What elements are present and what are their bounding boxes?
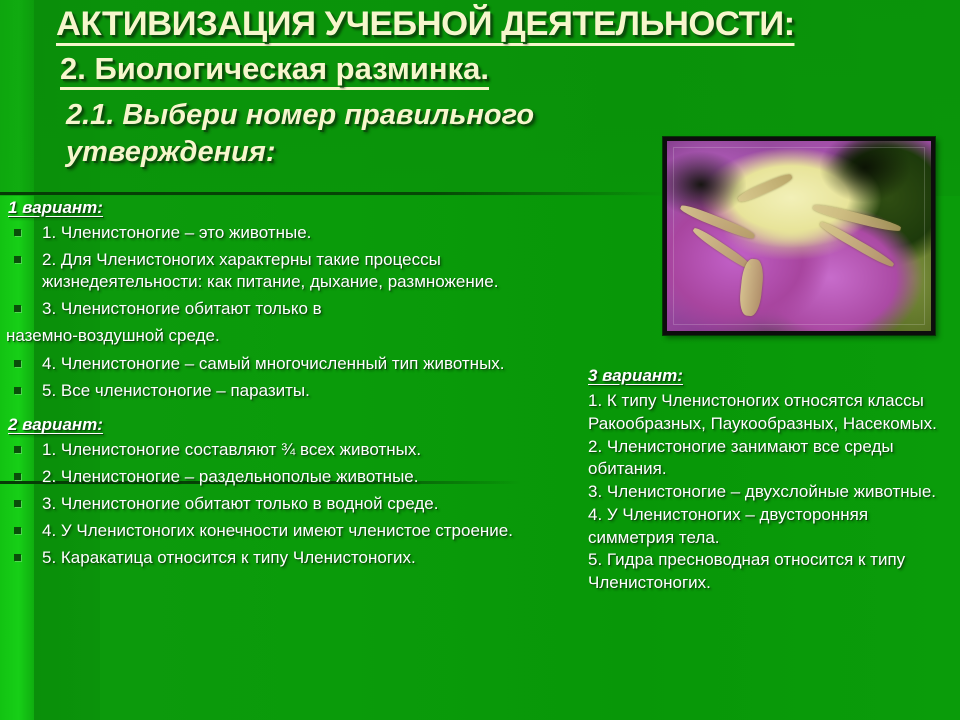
photo-shadow-2: [820, 137, 910, 202]
statement-text: 4. У Членистоногих конечности имеют член…: [42, 521, 513, 540]
square-bullet-icon: [14, 446, 21, 453]
variant-2-list: 1. Членистоногие составляют ¾ всех живот…: [0, 439, 578, 569]
list-item: 2. Для Членистоногих характерны такие пр…: [0, 249, 578, 293]
subtitle-section: 2. Биологическая разминка.: [60, 52, 489, 90]
list-item: 2. Членистоногие занимают все среды обит…: [588, 436, 948, 482]
list-item: 3. Членистоногие обитают только в: [0, 298, 578, 320]
statement-text: 1. Членистоногие составляют ¾ всех живот…: [42, 440, 421, 459]
list-item: 3. Членистоногие обитают только в водной…: [0, 493, 578, 515]
square-bullet-icon: [14, 256, 21, 263]
spacer: [0, 406, 578, 415]
slide-canvas: АКТИВИЗАЦИЯ УЧЕБНОЙ ДЕЯТЕЛЬНОСТИ: 2. Био…: [0, 0, 960, 720]
list-item: 1. Членистоногие – это животные.: [0, 222, 578, 244]
spider-photo-image: [667, 141, 931, 331]
photo-shadow-1: [663, 152, 746, 217]
page-title: АКТИВИЗАЦИЯ УЧЕБНОЙ ДЕЯТЕЛЬНОСТИ:: [56, 6, 795, 46]
square-bullet-icon: [14, 527, 21, 534]
statement-text: 3. Членистоногие обитают только в: [42, 299, 322, 318]
variant-2-heading: 2 вариант:: [8, 415, 578, 435]
square-bullet-icon: [14, 554, 21, 561]
variant-3-heading: 3 вариант:: [588, 366, 948, 386]
statement-text: 4. Членистоногие – самый многочисленный …: [42, 354, 505, 373]
statement-text: 2. Для Членистоногих характерны такие пр…: [42, 250, 498, 291]
list-item: 4. У Членистоногих – двусторонняя симмет…: [588, 504, 948, 550]
square-bullet-icon: [14, 305, 21, 312]
statement-text: 1. Членистоногие – это животные.: [42, 223, 311, 242]
statement-text: 3. Членистоногие обитают только в водной…: [42, 494, 438, 513]
square-bullet-icon: [14, 229, 21, 236]
divider-rule-top: [0, 192, 664, 195]
list-item: 1. Членистоногие составляют ¾ всех живот…: [0, 439, 578, 461]
list-item: 1. К типу Членистоногих относятся классы…: [588, 390, 948, 436]
variant-1-continuation: наземно-воздушной среде.: [6, 325, 578, 347]
left-column: 1 вариант: 1. Членистоногие – это животн…: [0, 198, 578, 574]
variant-1-heading: 1 вариант:: [8, 198, 578, 218]
spider-photo: [663, 137, 935, 335]
variant-1-list: 1. Членистоногие – это животные. 2. Для …: [0, 222, 578, 320]
list-item: 4. У Членистоногих конечности имеют член…: [0, 520, 578, 542]
list-item: 5. Каракатица относится к типу Членистон…: [0, 547, 578, 569]
square-bullet-icon: [14, 387, 21, 394]
list-item: 5. Гидра пресноводная относится к типу Ч…: [588, 549, 948, 595]
list-item: 5. Все членистоногие – паразиты.: [0, 380, 578, 402]
square-bullet-icon: [14, 473, 21, 480]
statement-text: 5. Все членистоногие – паразиты.: [42, 381, 310, 400]
variant-1-list-continued: 4. Членистоногие – самый многочисленный …: [0, 353, 578, 402]
statement-text: 5. Каракатица относится к типу Членистон…: [42, 548, 416, 567]
subtitle-task: 2.1. Выбери номер правильного утверждени…: [66, 97, 686, 171]
list-item: 2. Членистоногие – раздельнополые животн…: [0, 466, 578, 488]
variant-3-list: 1. К типу Членистоногих относятся классы…: [588, 390, 948, 595]
square-bullet-icon: [14, 500, 21, 507]
list-item: 3. Членистоногие – двухслойные животные.: [588, 481, 948, 504]
statement-text: 2. Членистоногие – раздельнополые животн…: [42, 467, 418, 486]
list-item: 4. Членистоногие – самый многочисленный …: [0, 353, 578, 375]
right-column: 3 вариант: 1. К типу Членистоногих относ…: [588, 366, 948, 595]
square-bullet-icon: [14, 360, 21, 367]
